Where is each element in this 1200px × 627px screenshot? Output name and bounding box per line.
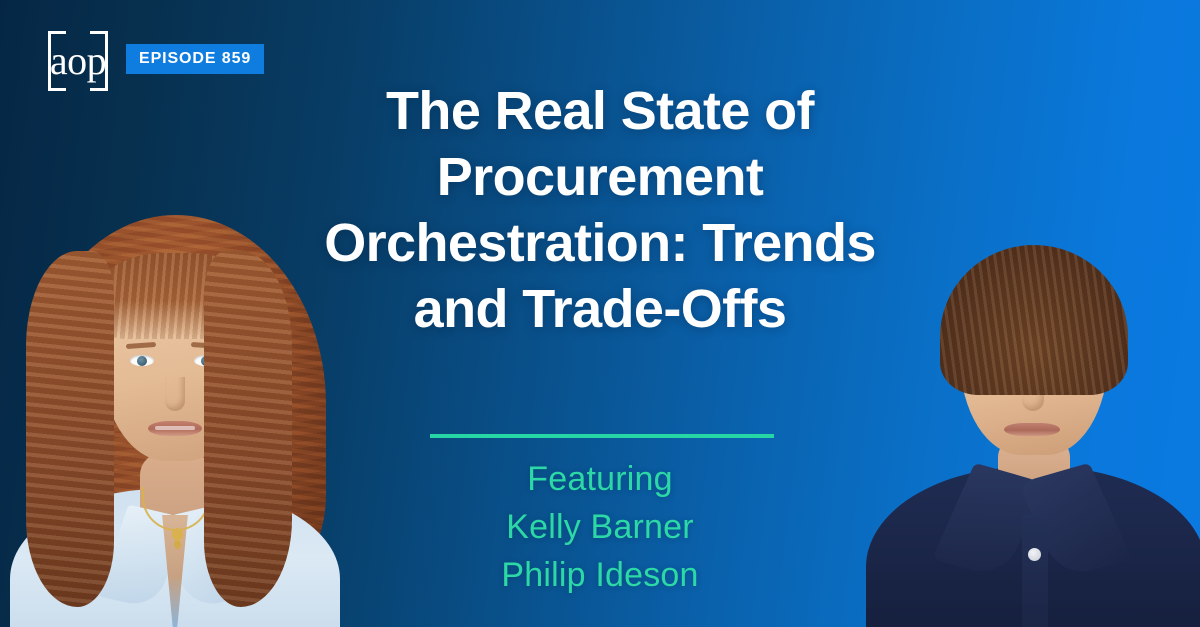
logo-wordmark: aop	[38, 41, 118, 81]
title-line-2: Procurement	[250, 144, 950, 210]
featuring-block: Featuring Kelly Barner Philip Ideson	[400, 455, 800, 599]
section-divider	[430, 434, 774, 438]
mouth-shape	[148, 421, 202, 436]
iris-left-shape	[137, 356, 147, 366]
episode-title: The Real State of Procurement Orchestrat…	[250, 78, 950, 342]
title-line-4: and Trade-Offs	[250, 276, 950, 342]
hair-front-left-shape	[26, 251, 114, 607]
necklace-pendant-icon	[172, 528, 183, 541]
aop-logo[interactable]: aop	[48, 31, 108, 91]
nose-shape	[165, 377, 185, 411]
title-line-1: The Real State of	[250, 78, 950, 144]
featuring-guest-1: Kelly Barner	[400, 503, 800, 551]
featuring-label: Featuring	[400, 455, 800, 503]
mouth-shape	[1004, 423, 1060, 436]
title-line-3: Orchestration: Trends	[250, 210, 950, 276]
episode-cover-canvas: aop EPISODE 859 The Real State of Procur…	[0, 0, 1200, 627]
hair-shape	[940, 245, 1128, 395]
episode-badge: EPISODE 859	[126, 44, 264, 74]
shirt-placket-shape	[1022, 515, 1048, 627]
featuring-guest-2: Philip Ideson	[400, 551, 800, 599]
shirt-button-icon	[1028, 548, 1041, 561]
